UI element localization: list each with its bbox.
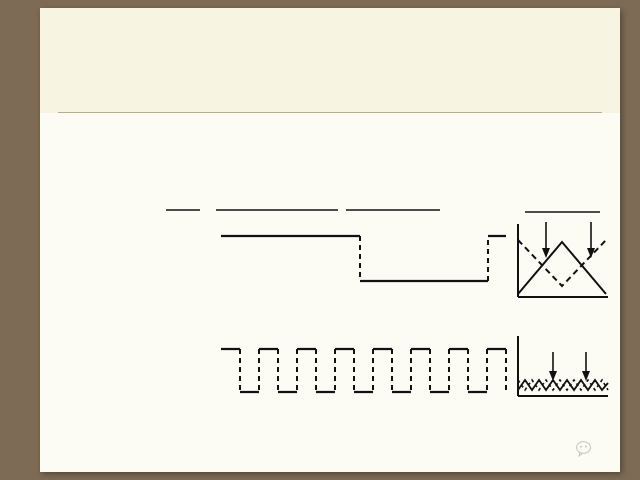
spiral-binding [0, 0, 70, 480]
batch-inventory-plot [518, 212, 608, 297]
wechat-icon [576, 441, 596, 458]
exhibit-figure [88, 164, 612, 434]
figure-lines [88, 164, 612, 434]
watermark [576, 441, 602, 458]
page-header-band [40, 8, 620, 113]
mixed-inventory-plot [518, 336, 608, 396]
slide [0, 0, 640, 480]
notebook-page [40, 8, 620, 472]
title-divider [58, 112, 602, 113]
